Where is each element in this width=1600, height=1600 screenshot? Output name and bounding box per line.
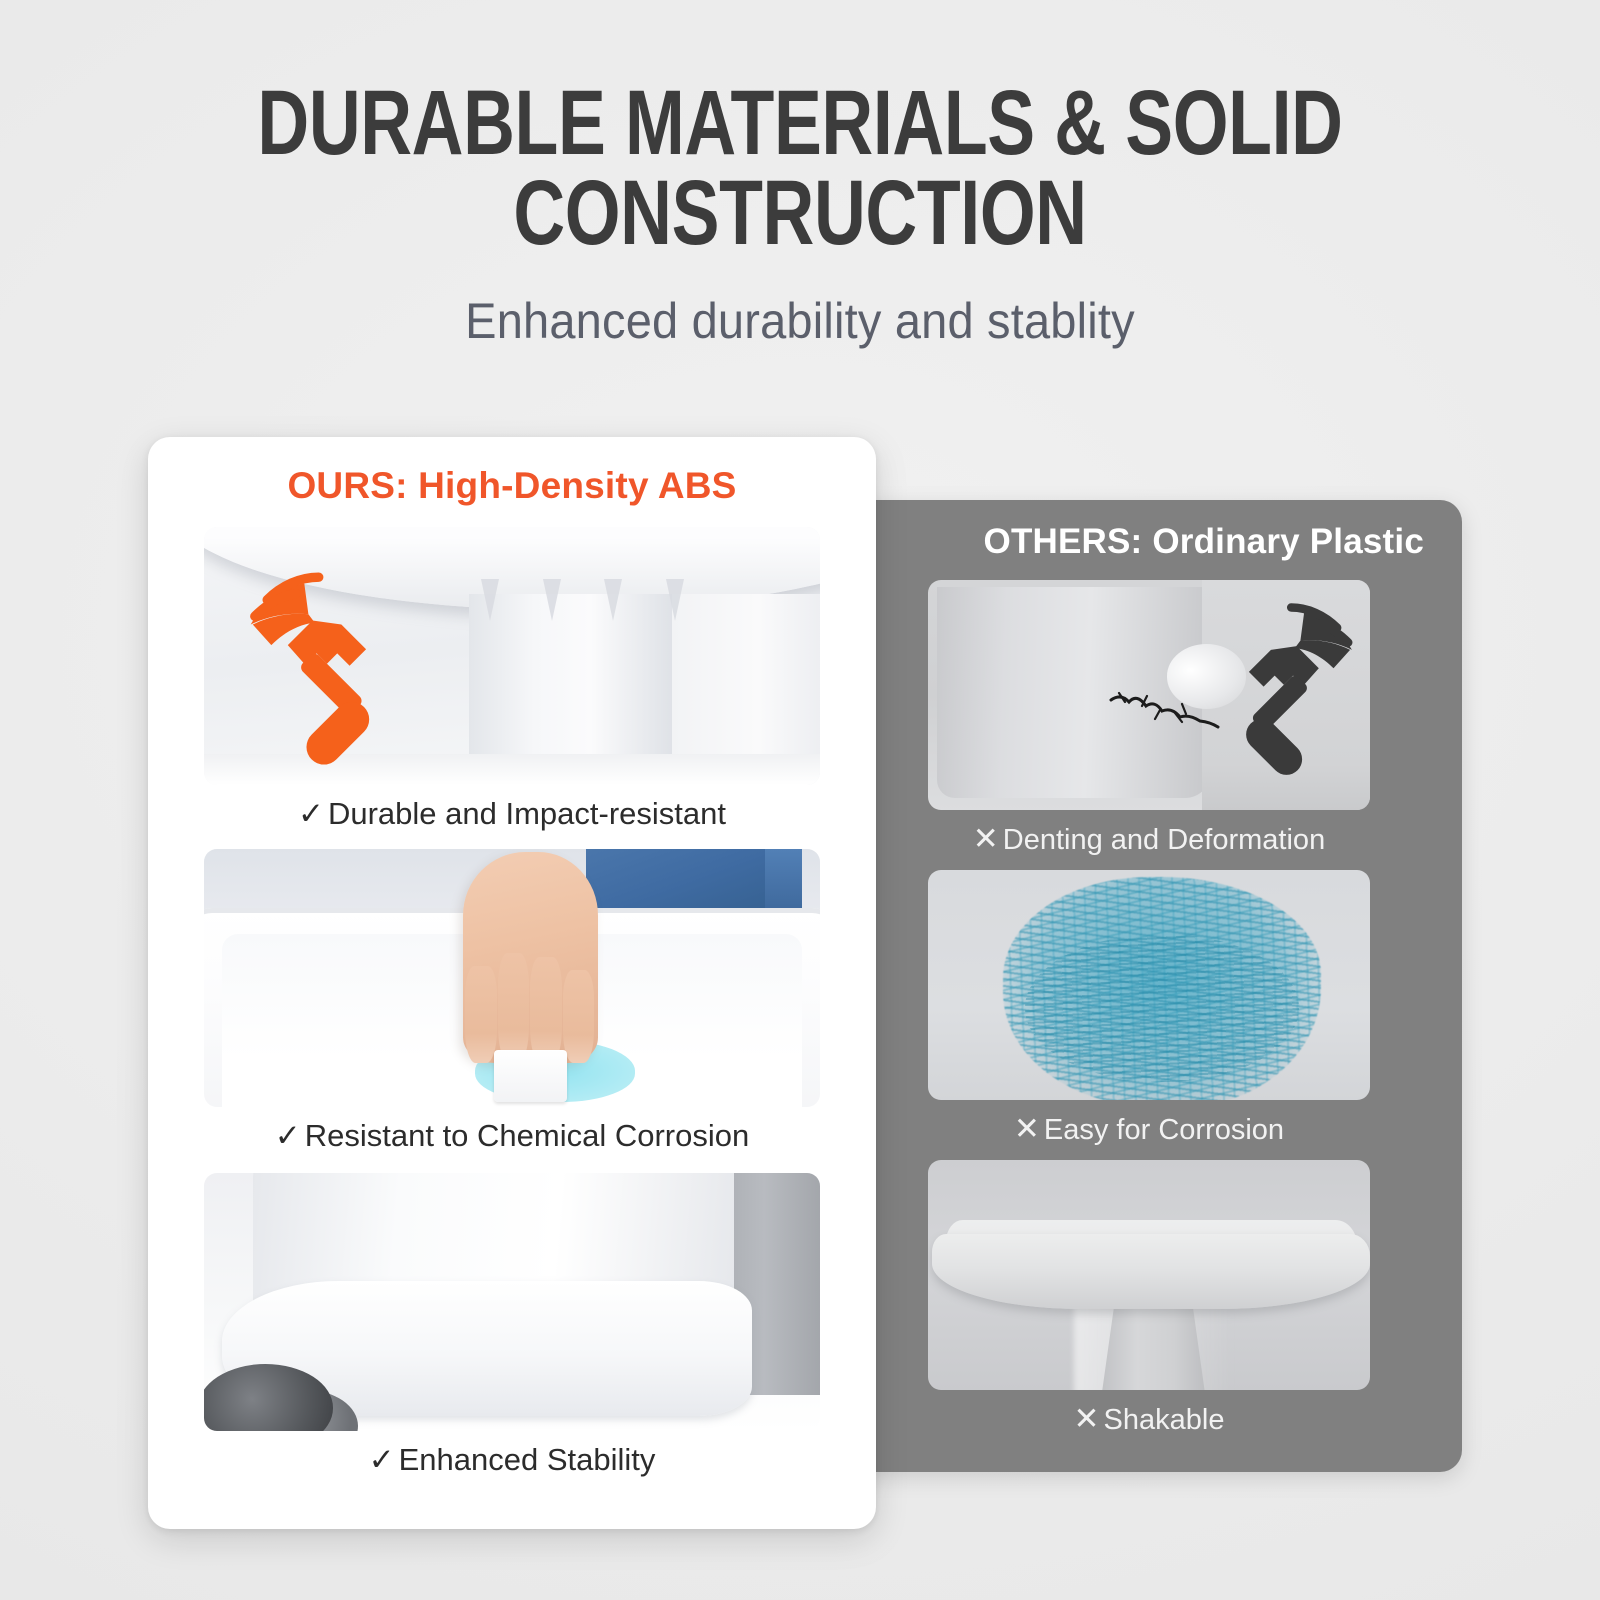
header: DURABLE MATERIALS & SOLID CONSTRUCTION E…	[0, 0, 1600, 350]
ours-caption-impact: ✓Durable and Impact-resistant	[204, 796, 820, 832]
check-icon: ✓	[369, 1442, 395, 1477]
cracked-plastic-hammer-photo	[928, 580, 1370, 810]
others-caption-denting: ✕Denting and Deformation	[928, 821, 1370, 857]
hammer-icon	[1190, 602, 1370, 786]
cart-underside-hammer-photo	[204, 527, 820, 785]
ours-caption-stability: ✓Enhanced Stability	[204, 1442, 820, 1478]
cross-icon: ✕	[1074, 1401, 1100, 1436]
others-caption-corrosion: ✕Easy for Corrosion	[928, 1111, 1370, 1147]
cross-icon: ✕	[1014, 1111, 1040, 1146]
blue-corrosion-scratches-photo	[928, 870, 1370, 1100]
others-item-corrosion: ✕Easy for Corrosion	[928, 870, 1370, 1147]
page-subtitle: Enhanced durability and stablity	[48, 292, 1552, 350]
ours-caption-chemical: ✓Resistant to Chemical Corrosion	[204, 1118, 820, 1154]
ours-item-impact: ✓Durable and Impact-resistant	[204, 527, 820, 832]
hammer-icon	[226, 571, 432, 777]
others-panel-title: OTHERS: Ordinary Plastic	[984, 522, 1424, 562]
cart-base-caster-photo	[204, 1173, 820, 1431]
cross-icon: ✕	[973, 821, 999, 856]
hand-wiping-tray-photo	[204, 849, 820, 1107]
ours-panel: OURS: High-Density ABS	[148, 437, 876, 1529]
ours-item-chemical: ✓Resistant to Chemical Corrosion	[204, 849, 820, 1154]
others-item-shakable: ✕Shakable	[928, 1160, 1370, 1437]
ours-panel-title: OURS: High-Density ABS	[148, 465, 876, 507]
page-title: DURABLE MATERIALS & SOLID CONSTRUCTION	[176, 78, 1424, 258]
others-caption-shakable: ✕Shakable	[928, 1401, 1370, 1437]
shaking-table-photo	[928, 1160, 1370, 1390]
hand-icon	[463, 852, 599, 1064]
check-icon: ✓	[298, 796, 324, 831]
check-icon: ✓	[275, 1118, 301, 1153]
sponge-icon	[494, 1050, 568, 1102]
others-item-denting: ✕Denting and Deformation	[928, 580, 1370, 857]
ours-item-stability: ✓Enhanced Stability	[204, 1173, 820, 1478]
